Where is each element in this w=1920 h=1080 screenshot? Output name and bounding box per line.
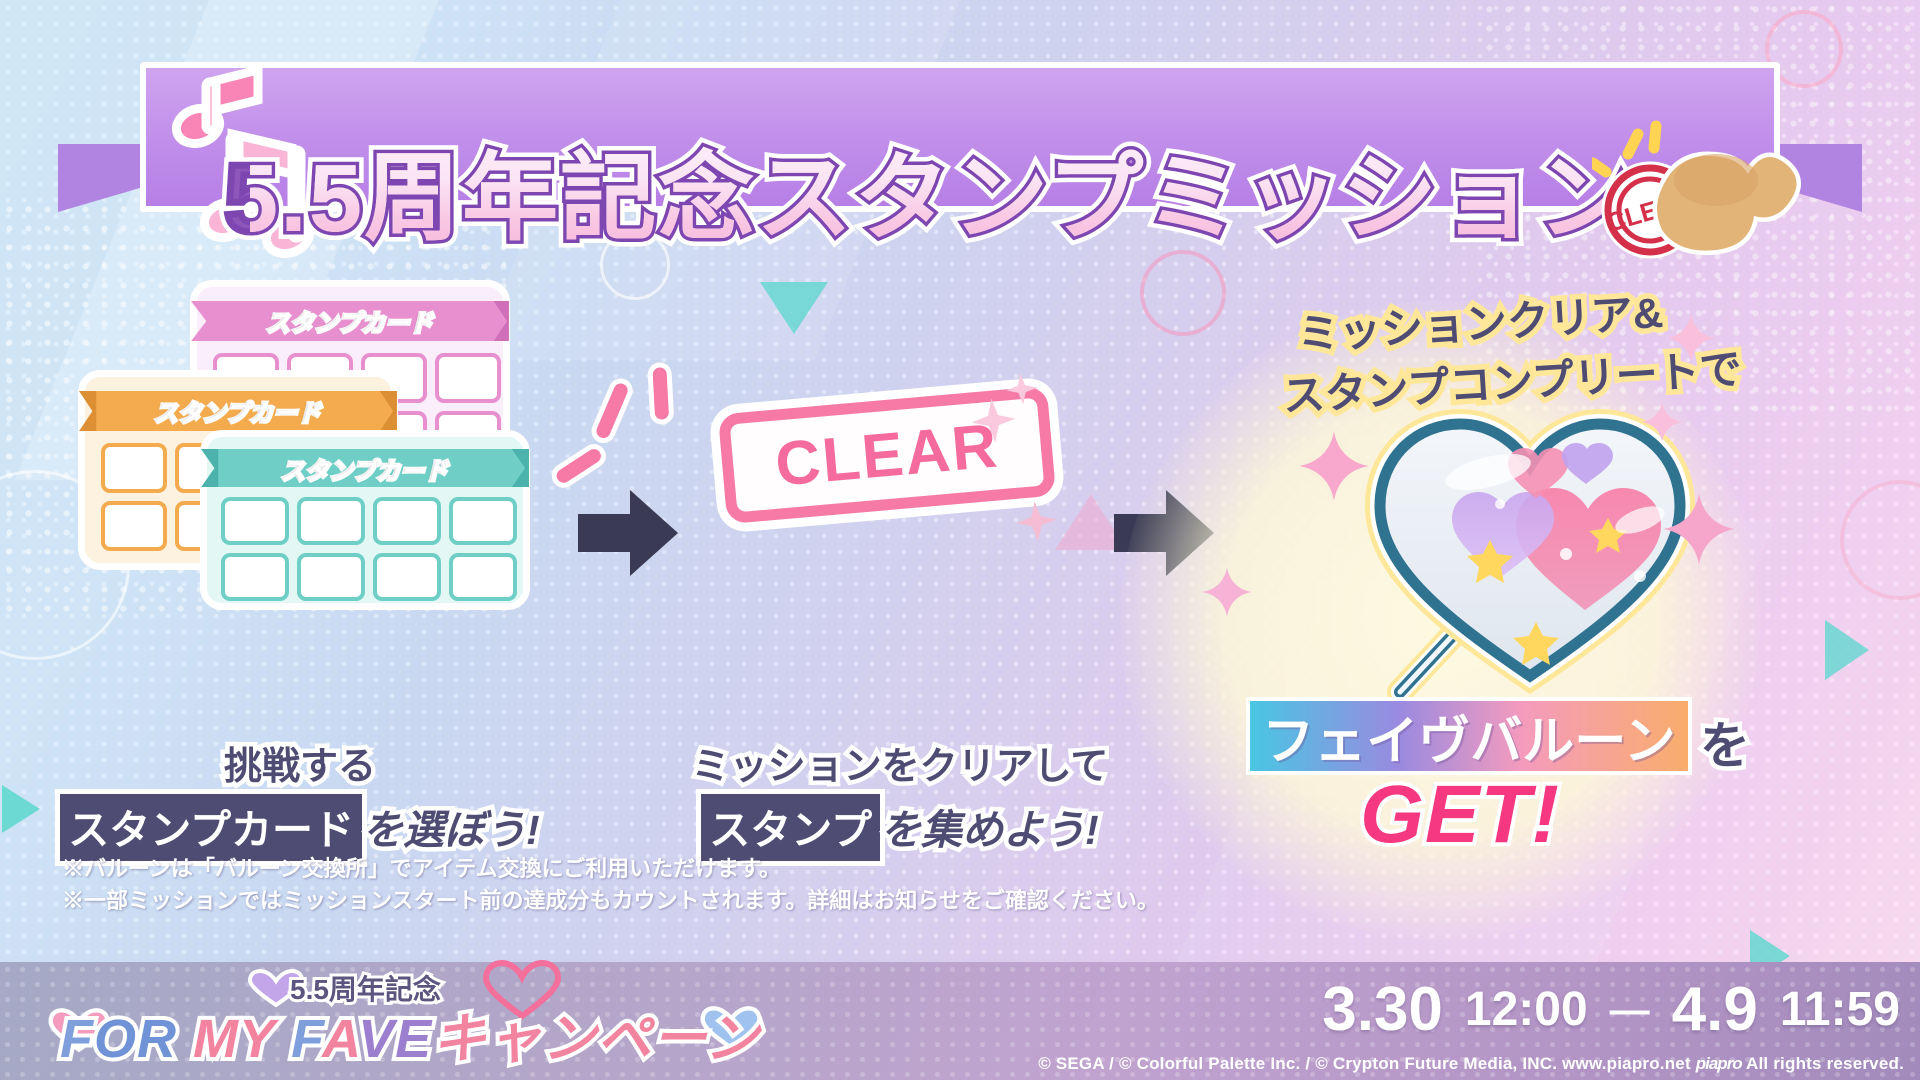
logo-letter: R xyxy=(137,1009,177,1069)
stamp-card-teal-banner: スタンプカード xyxy=(201,449,529,489)
sparkle-pink-5 xyxy=(1665,312,1717,364)
stamp-card-label: スタンプカード xyxy=(154,394,321,428)
sparkle-icon-3 xyxy=(1013,497,1061,545)
footer-bar: 5.5周年記念 FOR MY FAVEキャンペーン 3.30 12:00 — 4… xyxy=(0,962,1920,1080)
end-time: 11:59 xyxy=(1780,986,1900,1034)
caption-step1-line1: 挑戦する xyxy=(40,735,560,790)
background-triangle-teal-2 xyxy=(1825,620,1869,680)
stamp-slot xyxy=(101,443,167,493)
clear-label: CLEAR xyxy=(773,410,1002,500)
copyright-post: All rights reserved. xyxy=(1742,1054,1904,1073)
stamp-cards-group: スタンプカード スタンプカード xyxy=(60,270,580,610)
logo-letter: O xyxy=(94,1009,137,1069)
background-triangle-teal-1 xyxy=(760,282,828,334)
reward-item-name: フェイヴバルーン xyxy=(1262,699,1675,774)
logo-letter xyxy=(177,1009,193,1069)
stamp-slot xyxy=(435,353,501,403)
caption-step2: ミッションをクリアして スタンプを集めよう! xyxy=(640,735,1160,861)
caption-step1-line2: スタンプカードを選ぼう! xyxy=(40,794,560,861)
piapro-logo: piapro xyxy=(1696,1054,1742,1074)
logo-letter: V xyxy=(358,1009,395,1069)
caption-step1-highlight: スタンプカード xyxy=(60,794,362,861)
banner-title: 5.5周年記念スタンプミッション xyxy=(250,124,1610,254)
campaign-banner: 5.5周年記念スタンプミッション 5.5周年記念スタンプミッション 5.5周年記… xyxy=(0,0,1920,1080)
caption-step2-line2: スタンプを集めよう! xyxy=(640,794,1160,861)
footnotes: ※バルーンは「バルーン交換所」でアイテム交換にご利用いただけます。 ※一部ミッシ… xyxy=(62,853,1159,917)
caption-step2-tail: を集めよう! xyxy=(880,807,1099,853)
logo-letter: F xyxy=(60,1009,94,1069)
copyright-pre: © SEGA / © Colorful Palette Inc. / © Cry… xyxy=(1038,1054,1696,1073)
stamp-card-orange-banner: スタンプカード xyxy=(79,391,397,431)
start-time: 12:00 xyxy=(1465,986,1588,1034)
period-display: 3.30 12:00 — 4.9 11:59 xyxy=(840,964,1900,1056)
start-date: 3.30 xyxy=(1322,979,1443,1041)
background-triangle-teal-4 xyxy=(2,785,40,833)
sparkle-icon-2 xyxy=(1003,371,1040,408)
footnote-line-1: ※バルーンは「バルーン交換所」でアイテム交換にご利用いただけます。 xyxy=(62,853,1159,885)
title-banner: 5.5周年記念スタンプミッション 5.5周年記念スタンプミッション 5.5周年記… xyxy=(0,62,1920,212)
stamp-slot xyxy=(449,553,517,601)
caption-step1-tail: を選ぼう! xyxy=(362,807,540,853)
sparkle-pink-2 xyxy=(1200,565,1254,619)
stamp-slot xyxy=(373,497,441,545)
logo-letter xyxy=(275,1009,291,1069)
caption-step1: 挑戦する スタンプカードを選ぼう! xyxy=(40,735,560,861)
reward-particle: を xyxy=(1700,706,1750,778)
logo-letter: F xyxy=(291,1009,322,1069)
stamp-slot xyxy=(297,497,365,545)
stamp-card-pink-banner: スタンプカード xyxy=(191,301,509,341)
logo-letter: キャンペーン xyxy=(432,1009,759,1069)
stamp-slot xyxy=(101,501,167,551)
stamp-slot xyxy=(373,553,441,601)
logo-letter: Y xyxy=(239,1009,275,1069)
date-range-dash: — xyxy=(1610,988,1650,1033)
logo-letter: M xyxy=(193,1009,239,1069)
stamp-card-label: スタンプカード xyxy=(281,452,448,486)
clear-stamp-icon: CLEAR xyxy=(1592,110,1802,260)
stamp-slot xyxy=(221,497,289,545)
sparkle-pink-4 xyxy=(1640,400,1684,444)
stamp-card-label: スタンプカード xyxy=(266,304,433,338)
reward-get-label: GET! xyxy=(1240,768,1680,862)
sparkle-pink-1 xyxy=(1296,428,1372,504)
logo-title: FOR MY FAVEキャンペーン xyxy=(60,994,759,1073)
logo-letter: A xyxy=(322,1009,358,1069)
footnote-line-2: ※一部ミッションではミッションスタート前の達成分もカウントされます。詳細はお知ら… xyxy=(62,885,1159,917)
reward-item-name-bar: フェイヴバルーン xyxy=(1246,697,1692,775)
copyright-line: © SEGA / © Colorful Palette Inc. / © Cry… xyxy=(1038,1054,1904,1074)
arrow-right-icon-1 xyxy=(578,490,678,576)
logo-letter: E xyxy=(395,1009,432,1069)
caption-step2-line1: ミッションをクリアして xyxy=(640,735,1160,790)
stamp-slot xyxy=(449,497,517,545)
stamp-slot xyxy=(221,553,289,601)
stamp-slot xyxy=(297,553,365,601)
end-date: 4.9 xyxy=(1672,979,1758,1041)
caption-step2-highlight: スタンプ xyxy=(701,794,880,861)
campaign-logo: 5.5周年記念 FOR MY FAVEキャンペーン xyxy=(50,966,770,1058)
burst-line-2 xyxy=(652,367,669,420)
stamp-card-teal[interactable]: スタンプカード xyxy=(200,430,530,610)
sparkle-pink-3 xyxy=(1660,490,1738,568)
